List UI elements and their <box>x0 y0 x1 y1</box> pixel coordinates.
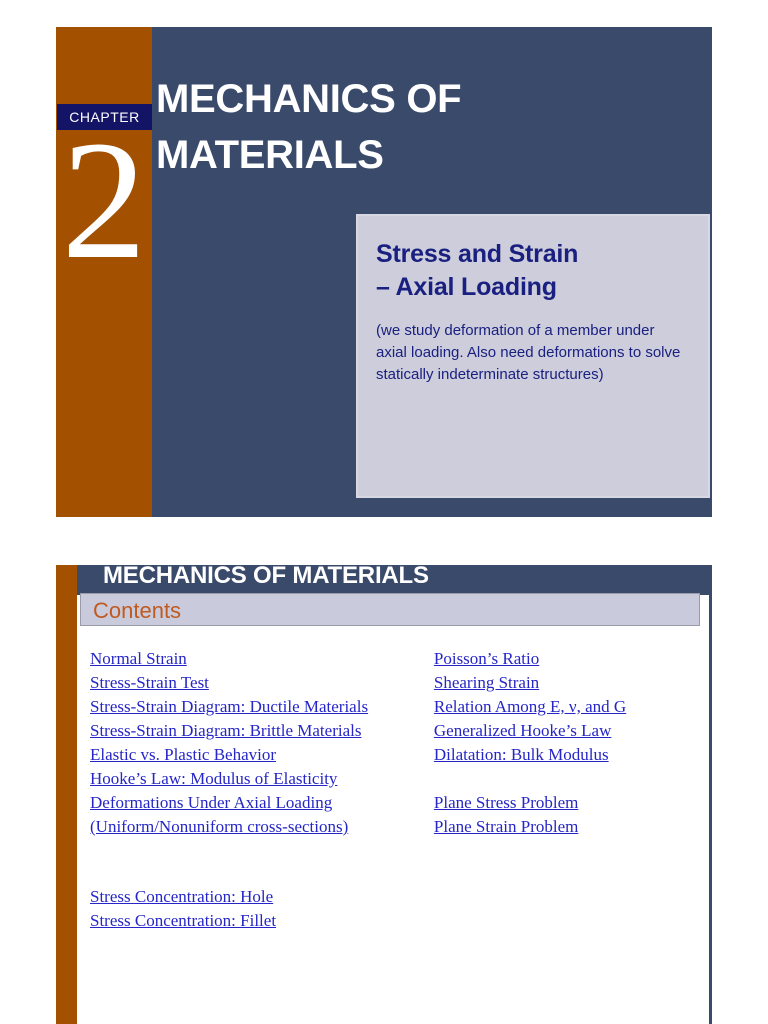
subtitle-heading-line-1: Stress and Strain <box>376 238 686 271</box>
toc-link[interactable]: Stress Concentration: Hole <box>90 885 434 909</box>
main-title-line-1: MECHANICS OF <box>156 71 676 127</box>
toc-link[interactable]: Stress-Strain Test <box>90 671 434 695</box>
toc-link[interactable]: Elastic vs. Plastic Behavior <box>90 743 434 767</box>
subtitle-heading-line-2: – Axial Loading <box>376 271 686 304</box>
toc-left-column: Normal Strain Stress-Strain Test Stress-… <box>90 647 434 1024</box>
toc-right-column: Poisson’s Ratio Shearing Strain Relation… <box>434 647 709 1024</box>
toc-link[interactable]: Poisson’s Ratio <box>434 647 709 671</box>
toc-link[interactable]: Stress-Strain Diagram: Brittle Materials <box>90 719 434 743</box>
title-slide: CHAPTER 2 MECHANICS OF MATERIALS Stress … <box>56 27 712 517</box>
toc-link[interactable]: Plane Strain Problem <box>434 815 709 839</box>
toc-link[interactable]: Relation Among E, ν, and G <box>434 695 709 719</box>
toc-spacer <box>90 839 434 885</box>
toc-spacer <box>434 767 709 791</box>
contents-banner: MECHANICS OF MATERIALS <box>77 565 709 595</box>
toc-link[interactable]: Shearing Strain <box>434 671 709 695</box>
toc-columns: Normal Strain Stress-Strain Test Stress-… <box>56 647 709 1024</box>
toc-link[interactable]: Hooke’s Law: Modulus of Elasticity <box>90 767 434 791</box>
toc-link[interactable]: Plane Stress Problem <box>434 791 709 815</box>
toc-link[interactable]: Stress Concentration: Fillet <box>90 909 434 933</box>
subtitle-note: (we study deformation of a member under … <box>376 320 686 386</box>
toc-link[interactable]: Deformations Under Axial Loading <box>90 791 434 815</box>
contents-bar: Contents <box>80 593 700 626</box>
toc-link[interactable]: (Uniform/Nonuniform cross-sections) <box>90 815 434 839</box>
toc-link[interactable]: Stress-Strain Diagram: Ductile Materials <box>90 695 434 719</box>
banner-title: MECHANICS OF MATERIALS <box>103 565 429 591</box>
chapter-number: 2 <box>56 115 152 285</box>
toc-link[interactable]: Normal Strain <box>90 647 434 671</box>
toc-link[interactable]: Dilatation: Bulk Modulus <box>434 743 709 767</box>
toc-link[interactable]: Generalized Hooke’s Law <box>434 719 709 743</box>
contents-label: Contents <box>93 597 181 624</box>
contents-slide: MECHANICS OF MATERIALS Contents Normal S… <box>56 565 712 1024</box>
main-title-line-2: MATERIALS <box>156 127 676 183</box>
subtitle-panel: Stress and Strain – Axial Loading (we st… <box>356 214 710 498</box>
page-title: MECHANICS OF MATERIALS <box>156 71 676 183</box>
subtitle-heading: Stress and Strain – Axial Loading <box>376 238 686 304</box>
